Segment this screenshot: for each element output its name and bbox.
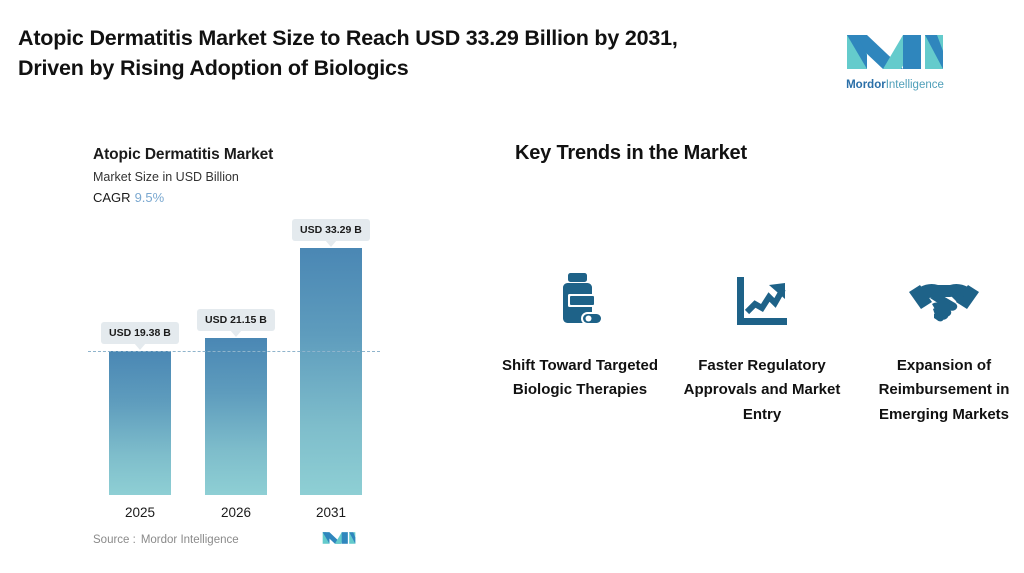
bar-value-label: USD 33.29 B: [292, 219, 370, 241]
trend-item-reimbursement-expansion: Expansion of Reimbursement in Emerging M…: [864, 270, 1024, 427]
bar-2025[interactable]: [109, 351, 171, 495]
label-pointer: [325, 240, 337, 247]
bar-value-label: USD 19.38 B: [101, 322, 179, 344]
x-axis-tick-2026: 2026: [191, 505, 281, 520]
bar-2026[interactable]: [205, 338, 267, 495]
trends-heading: Key Trends in the Market: [515, 142, 747, 165]
trends-list: Shift Toward Targeted Biologic Therapies…: [500, 270, 1024, 427]
logo-word-intelligence: Intelligence: [886, 79, 944, 91]
chart-gridline: [88, 351, 380, 352]
mordor-logo-mark-icon: [845, 27, 945, 77]
handshake-icon: [908, 270, 980, 332]
page-title: Atopic Dermatitis Market Size to Reach U…: [18, 24, 818, 83]
trend-label: Faster Regulatory Approvals and Market E…: [682, 354, 842, 427]
chart-panel: Atopic Dermatitis Market Market Size in …: [0, 120, 470, 573]
page-title-line-2: Driven by Rising Adoption of Biologics: [18, 54, 818, 84]
bar-chart-plot: USD 19.38 B2025USD 21.15 B2026USD 33.29 …: [0, 120, 470, 573]
bar-value-label: USD 21.15 B: [197, 309, 275, 331]
mordor-logo-wordmark: MordorIntelligence: [845, 79, 945, 91]
trends-panel: Key Trends in the Market Shift Toward Ta…: [470, 120, 1024, 573]
page-title-line-1: Atopic Dermatitis Market Size to Reach U…: [18, 24, 818, 54]
chart-source: Source :Mordor Intelligence: [93, 534, 239, 546]
chart-mordor-logo-icon: [322, 528, 356, 548]
chart-source-label: Source :: [93, 534, 136, 546]
label-pointer: [134, 343, 146, 350]
medicine-bottle-icon: [555, 270, 605, 332]
label-pointer: [230, 330, 242, 337]
trend-label: Shift Toward Targeted Biologic Therapies: [500, 354, 660, 403]
trend-item-regulatory-approvals: Faster Regulatory Approvals and Market E…: [682, 270, 842, 427]
logo-word-mordor: Mordor: [846, 79, 886, 91]
x-axis-tick-2025: 2025: [95, 505, 185, 520]
header: Atopic Dermatitis Market Size to Reach U…: [0, 0, 1024, 120]
chart-source-value: Mordor Intelligence: [141, 534, 239, 546]
x-axis-tick-2031: 2031: [286, 505, 376, 520]
bar-2031[interactable]: [300, 248, 362, 495]
growth-chart-icon: [735, 270, 789, 332]
trend-item-biologic-therapies: Shift Toward Targeted Biologic Therapies: [500, 270, 660, 403]
mordor-intelligence-logo: MordorIntelligence: [845, 27, 945, 99]
trend-label: Expansion of Reimbursement in Emerging M…: [864, 354, 1024, 427]
